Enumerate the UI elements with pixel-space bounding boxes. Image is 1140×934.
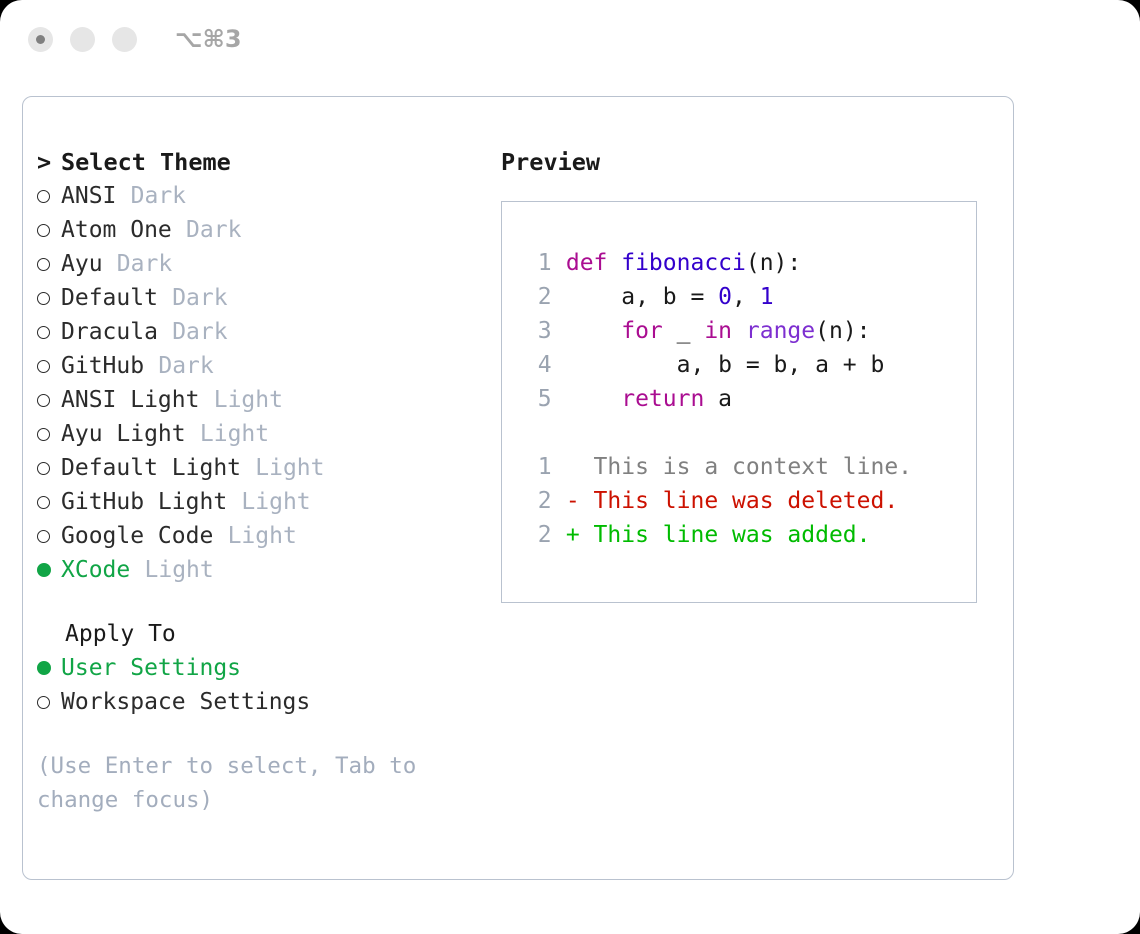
- code-token: in: [704, 318, 732, 344]
- theme-item-label: Default Light: [61, 451, 241, 485]
- caret-icon: >: [37, 145, 61, 179]
- diff-line-2: 2+ This line was added.: [524, 518, 976, 552]
- traffic-light-2[interactable]: [70, 27, 95, 52]
- radio-ring: [37, 224, 50, 237]
- theme-item-3[interactable]: DefaultDark: [37, 281, 487, 315]
- radio-ring: [37, 696, 50, 709]
- theme-item-11[interactable]: XCodeLight: [37, 553, 487, 587]
- theme-item-variant: Light: [241, 485, 310, 519]
- theme-item-label: Dracula: [61, 315, 158, 349]
- radio-ring: [37, 462, 50, 475]
- code-token: a, b = b, a + b: [566, 352, 885, 378]
- radio-unselected-icon: [37, 462, 61, 475]
- code-token: + This line was added.: [566, 522, 871, 548]
- theme-item-2[interactable]: AyuDark: [37, 247, 487, 281]
- title-bar: ⌥⌘3: [0, 0, 1140, 78]
- radio-ring: [37, 428, 50, 441]
- code-token: 0: [718, 284, 732, 310]
- preview-column: Preview 1def fibonacci(n):2 a, b = 0, 13…: [501, 145, 1001, 603]
- theme-item-label: GitHub Light: [61, 485, 227, 519]
- line-number: 2: [524, 280, 552, 314]
- radio-unselected-icon: [37, 696, 61, 709]
- code-token: a: [704, 386, 732, 412]
- theme-item-variant: Light: [228, 519, 297, 553]
- radio-ring: [37, 326, 50, 339]
- theme-item-7[interactable]: Ayu LightLight: [37, 417, 487, 451]
- code-token: def: [566, 250, 621, 276]
- radio-selected-icon: [37, 563, 61, 577]
- radio-unselected-icon: [37, 258, 61, 271]
- line-number: 4: [524, 348, 552, 382]
- code-token: a, b =: [566, 284, 718, 310]
- theme-item-label: Ayu Light: [61, 417, 186, 451]
- theme-item-label: Default: [61, 281, 158, 315]
- radio-unselected-icon: [37, 496, 61, 509]
- preview-heading: Preview: [501, 145, 1001, 179]
- theme-item-8[interactable]: Default LightLight: [37, 451, 487, 485]
- radio-ring: [37, 394, 50, 407]
- radio-unselected-icon: [37, 292, 61, 305]
- code-line-4: 5 return a: [524, 382, 976, 416]
- line-number: 1: [524, 450, 552, 484]
- code-line-1: 2 a, b = 0, 1: [524, 280, 976, 314]
- code-token: [732, 318, 746, 344]
- theme-picker-panel: > Select Theme ANSIDarkAtom OneDarkAyuDa…: [22, 96, 1014, 880]
- theme-item-variant: Light: [255, 451, 324, 485]
- code-line-0: 1def fibonacci(n):: [524, 246, 976, 280]
- apply-item-0[interactable]: User Settings: [37, 651, 487, 685]
- line-number: 2: [524, 484, 552, 518]
- code-token: return: [621, 386, 704, 412]
- theme-item-variant: Dark: [172, 315, 227, 349]
- code-line-3: 4 a, b = b, a + b: [524, 348, 976, 382]
- app-window: ⌥⌘3 > Select Theme ANSIDarkAtom OneDarkA…: [0, 0, 1140, 934]
- theme-item-variant: Light: [214, 383, 283, 417]
- diff-line-1: 2- This line was deleted.: [524, 484, 976, 518]
- theme-item-0[interactable]: ANSIDark: [37, 179, 487, 213]
- line-number: 2: [524, 518, 552, 552]
- keyboard-hint: (Use Enter to select, Tab to change focu…: [37, 749, 447, 817]
- apply-item-1[interactable]: Workspace Settings: [37, 685, 487, 719]
- section-spacer: [37, 587, 487, 617]
- radio-unselected-icon: [37, 360, 61, 373]
- theme-item-variant: Dark: [131, 179, 186, 213]
- radio-ring: [37, 530, 50, 543]
- code-token: (n):: [746, 250, 801, 276]
- traffic-light-active-dot: [36, 35, 45, 44]
- radio-unselected-icon: [37, 326, 61, 339]
- code-token: (n):: [815, 318, 870, 344]
- radio-unselected-icon: [37, 428, 61, 441]
- radio-unselected-icon: [37, 530, 61, 543]
- theme-item-9[interactable]: GitHub LightLight: [37, 485, 487, 519]
- diff-line-0: 1 This is a context line.: [524, 450, 976, 484]
- radio-ring: [37, 190, 50, 203]
- theme-item-label: GitHub: [61, 349, 144, 383]
- theme-item-variant: Dark: [158, 349, 213, 383]
- radio-selected-icon: [37, 661, 61, 675]
- theme-item-variant: Light: [200, 417, 269, 451]
- traffic-light-3[interactable]: [112, 27, 137, 52]
- theme-item-label: ANSI: [61, 179, 116, 213]
- theme-list: ANSIDarkAtom OneDarkAyuDarkDefaultDarkDr…: [37, 179, 487, 587]
- theme-selection-column: > Select Theme ANSIDarkAtom OneDarkAyuDa…: [37, 145, 487, 817]
- radio-dot: [37, 661, 51, 675]
- code-token: 1: [760, 284, 774, 310]
- theme-item-5[interactable]: GitHubDark: [37, 349, 487, 383]
- code-token: range: [746, 318, 815, 344]
- theme-item-1[interactable]: Atom OneDark: [37, 213, 487, 247]
- theme-item-label: ANSI Light: [61, 383, 199, 417]
- theme-item-variant: Dark: [172, 281, 227, 315]
- traffic-light-active[interactable]: [28, 27, 53, 52]
- apply-item-label: User Settings: [61, 651, 241, 685]
- keyboard-shortcut-label: ⌥⌘3: [175, 25, 242, 53]
- radio-unselected-icon: [37, 190, 61, 203]
- code-token: fibonacci: [621, 250, 746, 276]
- radio-ring: [37, 496, 50, 509]
- apply-to-list: User SettingsWorkspace Settings: [37, 651, 487, 719]
- theme-item-label: Atom One: [61, 213, 172, 247]
- theme-item-variant: Dark: [117, 247, 172, 281]
- traffic-lights: [28, 27, 137, 52]
- line-number: 5: [524, 382, 552, 416]
- radio-ring: [37, 292, 50, 305]
- theme-item-variant: Light: [145, 553, 214, 587]
- code-token: ,: [732, 284, 760, 310]
- theme-item-4[interactable]: DraculaDark: [37, 315, 487, 349]
- code-token: [566, 386, 621, 412]
- code-token: - This line was deleted.: [566, 488, 898, 514]
- radio-unselected-icon: [37, 394, 61, 407]
- preview-box: 1def fibonacci(n):2 a, b = 0, 13 for _ i…: [501, 201, 977, 603]
- line-number: 3: [524, 314, 552, 348]
- code-token: This is a context line.: [566, 454, 912, 480]
- theme-item-label: Ayu: [61, 247, 103, 281]
- diff-sample: 1 This is a context line.2- This line wa…: [524, 450, 976, 552]
- apply-item-label: Workspace Settings: [61, 685, 310, 719]
- code-diff-gap: [524, 416, 976, 450]
- theme-item-label: XCode: [61, 553, 130, 587]
- theme-item-variant: Dark: [186, 213, 241, 247]
- code-token: for: [621, 318, 663, 344]
- radio-ring: [37, 360, 50, 373]
- theme-item-10[interactable]: Google CodeLight: [37, 519, 487, 553]
- select-theme-heading: > Select Theme: [37, 145, 487, 179]
- apply-to-heading: Apply To: [37, 617, 487, 651]
- code-line-2: 3 for _ in range(n):: [524, 314, 976, 348]
- radio-dot: [37, 563, 51, 577]
- code-token: _: [663, 318, 705, 344]
- line-number: 1: [524, 246, 552, 280]
- code-sample: 1def fibonacci(n):2 a, b = 0, 13 for _ i…: [524, 246, 976, 416]
- radio-ring: [37, 258, 50, 271]
- theme-item-6[interactable]: ANSI LightLight: [37, 383, 487, 417]
- code-token: [566, 318, 621, 344]
- theme-item-label: Google Code: [61, 519, 213, 553]
- select-theme-title: Select Theme: [61, 145, 231, 179]
- radio-unselected-icon: [37, 224, 61, 237]
